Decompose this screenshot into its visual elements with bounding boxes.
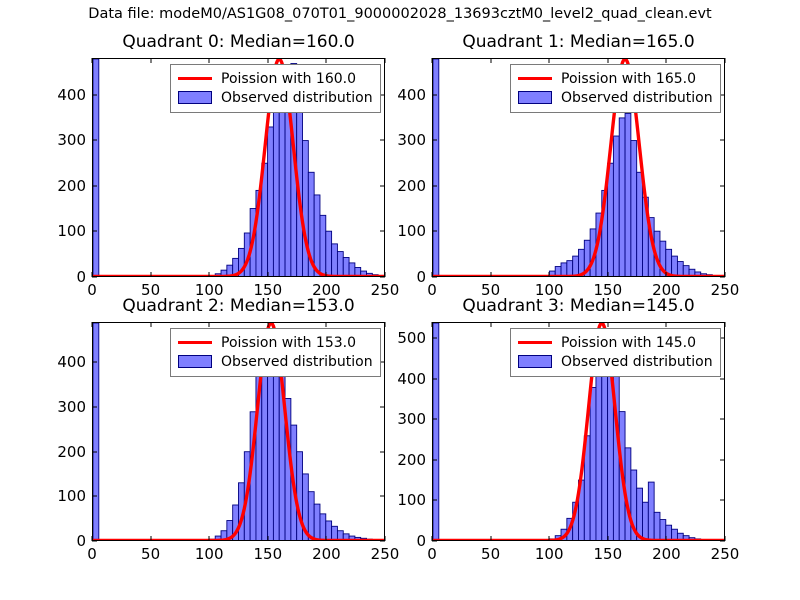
x-tick-mark [326, 272, 327, 277]
legend-patch-swatch-icon [178, 355, 212, 368]
y-tick-label: 200 [397, 451, 426, 469]
y-tick-mark [380, 362, 385, 363]
x-tick-mark [607, 536, 608, 541]
histogram-bar [672, 529, 678, 540]
x-tick-mark [725, 58, 726, 63]
y-tick-label: 200 [57, 177, 86, 195]
histogram-bar [332, 526, 338, 540]
y-tick-mark [432, 140, 437, 141]
x-tick-mark [432, 58, 433, 63]
y-tick-mark [92, 496, 97, 497]
y-tick-mark [720, 500, 725, 501]
subplot-quadrant-3: Quadrant 3: Median=145.0 010020030040050… [432, 322, 725, 541]
y-tick-mark [720, 231, 725, 232]
x-tick-mark [490, 58, 491, 63]
histogram-bar [631, 141, 637, 277]
x-tick-mark [326, 322, 327, 327]
legend-quadrant-2[interactable]: Poission with 153.0 Observed distributio… [170, 328, 381, 377]
legend-label-curve: Poission with 160.0 [221, 72, 356, 86]
y-tick-mark [432, 459, 437, 460]
histogram-bar [314, 504, 320, 540]
legend-label-curve: Poission with 145.0 [561, 336, 696, 350]
x-tick-label: 200 [312, 545, 341, 563]
y-tick-label: 0 [416, 268, 426, 286]
histogram-bar [326, 231, 332, 276]
x-tick-mark [209, 536, 210, 541]
x-tick-mark [209, 322, 210, 327]
y-tick-mark [92, 94, 97, 95]
x-tick-mark [267, 272, 268, 277]
legend-row-histogram: Observed distribution [518, 352, 713, 371]
x-tick-mark [385, 322, 386, 327]
legend-line-swatch-icon [178, 336, 212, 350]
legend-label-curve: Poission with 153.0 [221, 336, 356, 350]
y-tick-mark [432, 500, 437, 501]
histogram-bar [672, 256, 678, 276]
y-tick-mark [720, 185, 725, 186]
histogram-bar [314, 195, 320, 277]
subplot-title-quadrant-1: Quadrant 1: Median=165.0 [432, 32, 725, 52]
x-tick-mark [92, 536, 93, 541]
y-tick-mark [380, 94, 385, 95]
histogram-bar [320, 215, 326, 276]
x-tick-mark [326, 58, 327, 63]
x-tick-label: 0 [427, 545, 437, 563]
y-tick-mark [380, 451, 385, 452]
y-tick-mark [380, 406, 385, 407]
y-tick-mark [92, 406, 97, 407]
x-tick-mark [725, 322, 726, 327]
histogram-bar [337, 252, 343, 277]
y-tick-mark [720, 378, 725, 379]
histogram-bar [573, 256, 579, 276]
histogram-bar [433, 59, 439, 277]
y-tick-mark [432, 94, 437, 95]
y-tick-label: 0 [76, 532, 86, 550]
legend-line-swatch-icon [178, 72, 212, 86]
x-tick-mark [666, 272, 667, 277]
y-tick-label: 400 [57, 86, 86, 104]
x-tick-mark [549, 536, 550, 541]
y-tick-label: 400 [57, 353, 86, 371]
x-tick-mark [432, 536, 433, 541]
x-tick-mark [150, 272, 151, 277]
legend-patch-swatch-icon [518, 355, 552, 368]
legend-row-histogram: Observed distribution [178, 88, 373, 107]
y-tick-label: 0 [76, 268, 86, 286]
y-tick-mark [432, 185, 437, 186]
y-tick-mark [720, 459, 725, 460]
x-tick-mark [607, 272, 608, 277]
x-tick-label: 50 [141, 545, 160, 563]
legend-label-histogram: Observed distribution [561, 91, 713, 105]
x-tick-label: 250 [711, 545, 740, 563]
y-tick-mark [720, 338, 725, 339]
y-tick-label: 0 [416, 532, 426, 550]
histogram-bar [433, 323, 439, 541]
legend-quadrant-3[interactable]: Poission with 145.0 Observed distributio… [510, 328, 721, 377]
x-tick-mark [666, 536, 667, 541]
x-tick-mark [432, 272, 433, 277]
x-tick-mark [490, 536, 491, 541]
x-tick-mark [607, 58, 608, 63]
histogram-bar [637, 172, 643, 276]
y-tick-label: 400 [397, 370, 426, 388]
legend-label-histogram: Observed distribution [561, 355, 713, 369]
x-tick-mark [725, 536, 726, 541]
legend-patch-swatch-icon [178, 91, 212, 104]
y-tick-label: 300 [57, 398, 86, 416]
x-tick-label: 150 [593, 545, 622, 563]
x-tick-mark [549, 58, 550, 63]
histogram-bar [567, 261, 573, 277]
x-tick-mark [92, 272, 93, 277]
x-tick-label: 100 [535, 545, 564, 563]
y-tick-mark [92, 541, 97, 542]
y-tick-mark [92, 451, 97, 452]
y-tick-mark [92, 362, 97, 363]
y-tick-mark [92, 277, 97, 278]
y-tick-label: 100 [397, 491, 426, 509]
legend-row-curve: Poission with 153.0 [178, 333, 373, 352]
y-tick-mark [720, 419, 725, 420]
x-tick-mark [150, 536, 151, 541]
histogram-bar [625, 113, 631, 276]
x-tick-mark [432, 322, 433, 327]
x-tick-label: 200 [652, 545, 681, 563]
y-tick-mark [92, 231, 97, 232]
subplot-title-quadrant-3: Quadrant 3: Median=145.0 [432, 296, 725, 316]
y-tick-mark [380, 185, 385, 186]
y-tick-mark [380, 231, 385, 232]
y-tick-label: 300 [57, 131, 86, 149]
legend-line-swatch-icon [518, 72, 552, 86]
y-tick-mark [380, 496, 385, 497]
histogram-bar [268, 127, 274, 277]
histogram-bar [613, 136, 619, 276]
y-tick-label: 100 [57, 487, 86, 505]
subplot-title-quadrant-0: Quadrant 0: Median=160.0 [92, 32, 385, 52]
x-tick-mark [607, 322, 608, 327]
histogram-bar [643, 502, 649, 540]
x-tick-mark [385, 536, 386, 541]
y-tick-label: 200 [57, 443, 86, 461]
legend-row-curve: Poission with 165.0 [518, 69, 713, 88]
legend-patch-swatch-icon [518, 91, 552, 104]
y-tick-mark [720, 94, 725, 95]
x-tick-mark [490, 272, 491, 277]
x-tick-mark [92, 322, 93, 327]
histogram-bar [93, 59, 99, 277]
subplot-title-quadrant-2: Quadrant 2: Median=153.0 [92, 296, 385, 316]
histogram-bar [343, 257, 349, 276]
y-tick-mark [92, 140, 97, 141]
y-tick-mark [432, 338, 437, 339]
histogram-bar [303, 141, 309, 277]
y-tick-label: 300 [397, 410, 426, 428]
histogram-bar [561, 263, 567, 277]
x-tick-label: 100 [195, 545, 224, 563]
figure-canvas: Data file: modeM0/AS1G08_070T01_90000020… [0, 0, 800, 600]
legend-row-curve: Poission with 160.0 [178, 69, 373, 88]
y-tick-label: 100 [397, 222, 426, 240]
x-tick-mark [267, 322, 268, 327]
y-tick-mark [432, 378, 437, 379]
histogram-bar [332, 244, 338, 277]
y-tick-mark [432, 419, 437, 420]
legend-row-curve: Poission with 145.0 [518, 333, 713, 352]
y-tick-label: 100 [57, 222, 86, 240]
x-tick-mark [209, 58, 210, 63]
y-tick-mark [432, 277, 437, 278]
x-tick-mark [490, 322, 491, 327]
legend-quadrant-1[interactable]: Poission with 165.0 Observed distributio… [510, 64, 721, 113]
y-tick-mark [432, 541, 437, 542]
legend-line-swatch-icon [518, 336, 552, 350]
y-tick-mark [92, 185, 97, 186]
x-tick-mark [385, 272, 386, 277]
histogram-bar [308, 492, 314, 541]
histogram-bar [590, 387, 596, 540]
x-tick-mark [549, 272, 550, 277]
subplot-quadrant-1: Quadrant 1: Median=165.0 010020030040005… [432, 58, 725, 277]
subplot-quadrant-2: Quadrant 2: Median=153.0 010020030040005… [92, 322, 385, 541]
legend-label-curve: Poission with 165.0 [561, 72, 696, 86]
legend-row-histogram: Observed distribution [518, 88, 713, 107]
histogram-bar [677, 262, 683, 277]
x-tick-label: 0 [87, 545, 97, 563]
y-tick-mark [720, 140, 725, 141]
legend-label-histogram: Observed distribution [221, 91, 373, 105]
x-tick-mark [150, 58, 151, 63]
histogram-bar [619, 118, 625, 277]
histogram-bar [654, 512, 660, 540]
legend-label-histogram: Observed distribution [221, 355, 373, 369]
x-tick-label: 50 [481, 545, 500, 563]
x-tick-mark [150, 322, 151, 327]
figure-suptitle: Data file: modeM0/AS1G08_070T01_90000020… [0, 6, 800, 22]
legend-quadrant-0[interactable]: Poission with 160.0 Observed distributio… [170, 64, 381, 113]
subplot-quadrant-0: Quadrant 0: Median=160.0 010020030040005… [92, 58, 385, 277]
y-tick-mark [380, 140, 385, 141]
x-tick-label: 150 [253, 545, 282, 563]
y-tick-label: 300 [397, 131, 426, 149]
histogram-bar [93, 323, 99, 541]
y-tick-mark [432, 231, 437, 232]
x-tick-mark [326, 536, 327, 541]
y-tick-label: 400 [397, 86, 426, 104]
x-tick-mark [666, 322, 667, 327]
x-tick-mark [267, 58, 268, 63]
x-tick-mark [385, 58, 386, 63]
histogram-bar [349, 263, 355, 277]
x-tick-mark [267, 536, 268, 541]
x-tick-label: 250 [371, 545, 400, 563]
x-tick-mark [666, 58, 667, 63]
y-tick-label: 500 [397, 329, 426, 347]
histogram-bar [648, 482, 654, 540]
histogram-bar [273, 86, 279, 276]
y-tick-label: 200 [397, 177, 426, 195]
x-tick-mark [549, 322, 550, 327]
legend-row-histogram: Observed distribution [178, 352, 373, 371]
x-tick-mark [209, 272, 210, 277]
x-tick-mark [725, 272, 726, 277]
x-tick-mark [92, 58, 93, 63]
